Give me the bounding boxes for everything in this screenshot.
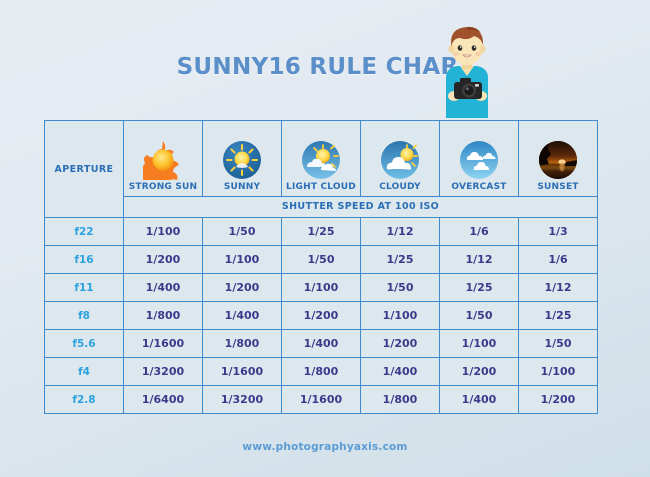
cloudy-icon — [380, 140, 420, 180]
shutter-value: 1/1600 — [282, 386, 361, 414]
condition-label: OVERCAST — [451, 182, 506, 196]
shutter-value: 1/400 — [203, 302, 282, 330]
shutter-value: 1/50 — [282, 246, 361, 274]
table-row: f5.6 1/1600 1/800 1/400 1/200 1/100 1/50 — [45, 330, 598, 358]
aperture-value: f16 — [45, 246, 124, 274]
aperture-value: f5.6 — [45, 330, 124, 358]
shutter-value: 1/800 — [124, 302, 203, 330]
condition-header-strong-sun: STRONG SUN — [124, 121, 203, 197]
shutter-speed-band-label: SHUTTER SPEED AT 100 ISO — [124, 196, 598, 217]
shutter-value: 1/3 — [519, 218, 598, 246]
table-row: f16 1/200 1/100 1/50 1/25 1/12 1/6 — [45, 246, 598, 274]
shutter-value: 1/400 — [282, 330, 361, 358]
condition-header-sunny: SUNNY — [203, 121, 282, 197]
header: SUNNY16 RULE CHART — [0, 0, 650, 118]
shutter-value: 1/1600 — [203, 358, 282, 386]
shutter-value: 1/12 — [519, 274, 598, 302]
shutter-value: 1/400 — [361, 358, 440, 386]
shutter-value: 1/200 — [440, 358, 519, 386]
page-title: SUNNY16 RULE CHART — [0, 54, 650, 80]
shutter-value: 1/3200 — [203, 386, 282, 414]
shutter-value: 1/100 — [440, 330, 519, 358]
condition-label: SUNSET — [537, 182, 578, 196]
shutter-value: 1/25 — [361, 246, 440, 274]
shutter-value: 1/100 — [519, 358, 598, 386]
aperture-value: f11 — [45, 274, 124, 302]
shutter-value: 1/12 — [440, 246, 519, 274]
table-row: f2.8 1/6400 1/3200 1/1600 1/800 1/400 1/… — [45, 386, 598, 414]
shutter-value: 1/800 — [282, 358, 361, 386]
shutter-value: 1/1600 — [124, 330, 203, 358]
table-row: f22 1/100 1/50 1/25 1/12 1/6 1/3 — [45, 218, 598, 246]
condition-header-cloudy: CLOUDY — [361, 121, 440, 197]
shutter-value: 1/100 — [124, 218, 203, 246]
shutter-value: 1/200 — [282, 302, 361, 330]
condition-label: LIGHT CLOUD — [286, 182, 356, 196]
table-row: f4 1/3200 1/1600 1/800 1/400 1/200 1/100 — [45, 358, 598, 386]
strong-sun-icon — [143, 140, 183, 180]
condition-header-light-cloud: LIGHT CLOUD — [282, 121, 361, 197]
shutter-value: 1/100 — [203, 246, 282, 274]
sunny-icon — [222, 140, 262, 180]
table-row: f8 1/800 1/400 1/200 1/100 1/50 1/25 — [45, 302, 598, 330]
shutter-value: 1/6400 — [124, 386, 203, 414]
shutter-value: 1/25 — [282, 218, 361, 246]
shutter-value: 1/800 — [361, 386, 440, 414]
shutter-value: 1/100 — [361, 302, 440, 330]
condition-header-overcast: OVERCAST — [440, 121, 519, 197]
shutter-value: 1/50 — [440, 302, 519, 330]
aperture-value: f2.8 — [45, 386, 124, 414]
shutter-value: 1/12 — [361, 218, 440, 246]
shutter-value: 1/200 — [124, 246, 203, 274]
footer-website: www.photographyaxis.com — [0, 441, 650, 453]
shutter-value: 1/100 — [282, 274, 361, 302]
shutter-value: 1/6 — [519, 246, 598, 274]
shutter-value: 1/50 — [519, 330, 598, 358]
aperture-value: f22 — [45, 218, 124, 246]
overcast-icon — [459, 140, 499, 180]
sunny16-rule-table: APERTURE — [44, 120, 598, 414]
shutter-speed-band-row: SHUTTER SPEED AT 100 ISO — [45, 196, 598, 217]
condition-header-sunset: SUNSET — [519, 121, 598, 197]
shutter-value: 1/400 — [440, 386, 519, 414]
condition-label: SUNNY — [224, 182, 260, 196]
table-row: f11 1/400 1/200 1/100 1/50 1/25 1/12 — [45, 274, 598, 302]
photographer-illustration — [424, 22, 510, 118]
shutter-value: 1/800 — [203, 330, 282, 358]
shutter-value: 1/400 — [124, 274, 203, 302]
shutter-value: 1/50 — [203, 218, 282, 246]
aperture-header: APERTURE — [45, 121, 124, 218]
condition-label: CLOUDY — [379, 182, 421, 196]
shutter-value: 1/200 — [519, 386, 598, 414]
sunset-icon — [538, 140, 578, 180]
shutter-value: 1/25 — [519, 302, 598, 330]
aperture-value: f8 — [45, 302, 124, 330]
shutter-value: 1/200 — [203, 274, 282, 302]
shutter-value: 1/50 — [361, 274, 440, 302]
shutter-value: 1/25 — [440, 274, 519, 302]
shutter-value: 1/6 — [440, 218, 519, 246]
light-cloud-icon — [301, 140, 341, 180]
condition-label: STRONG SUN — [129, 182, 198, 196]
shutter-value: 1/3200 — [124, 358, 203, 386]
shutter-value: 1/200 — [361, 330, 440, 358]
table-header-row: APERTURE — [45, 121, 598, 197]
aperture-value: f4 — [45, 358, 124, 386]
